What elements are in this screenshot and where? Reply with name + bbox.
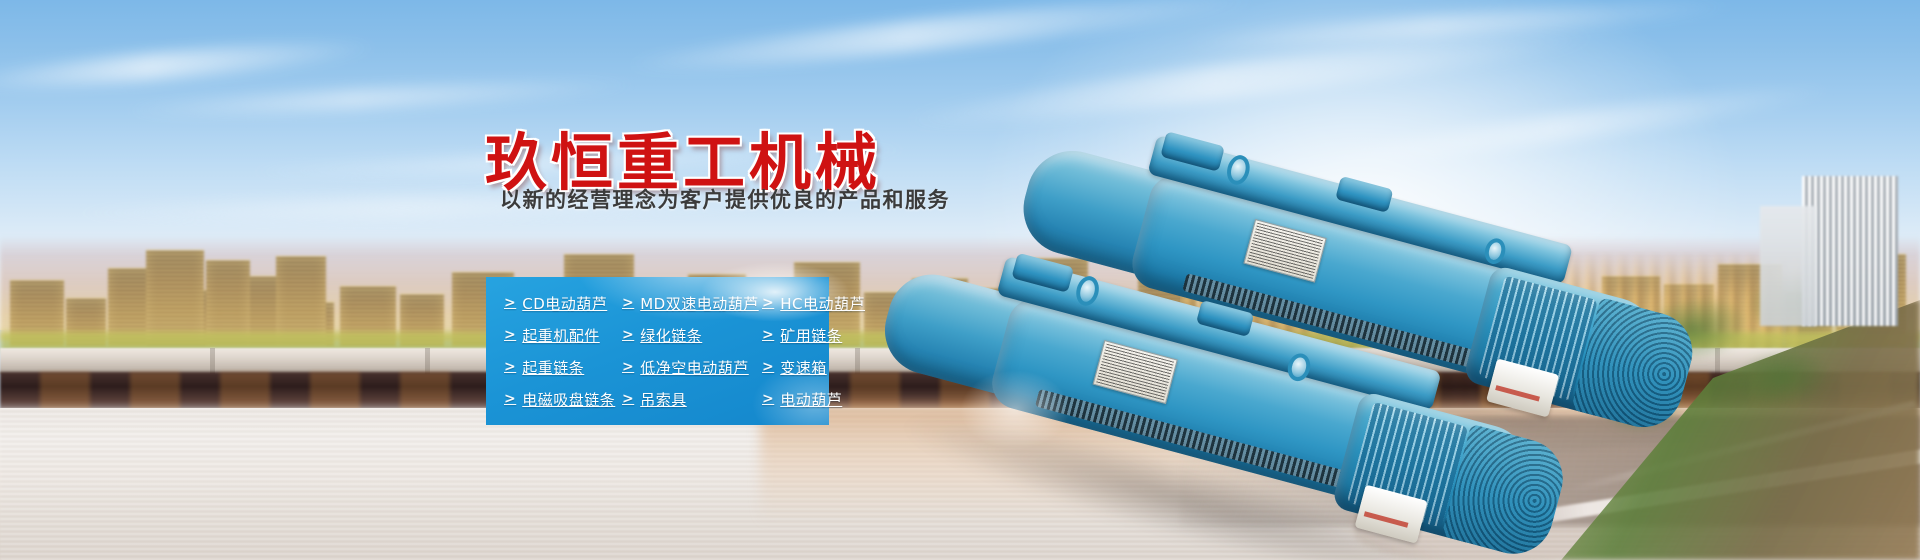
product-link[interactable]: > 变速箱 [762, 351, 865, 383]
product-link[interactable]: > HC电动葫芦 [762, 287, 865, 319]
chevron-right-icon: > [504, 391, 516, 407]
product-link-label: HC电动葫芦 [780, 293, 865, 314]
chevron-right-icon: > [622, 391, 634, 407]
product-link-label: 绿化链条 [640, 325, 702, 346]
product-link-label: 电动葫芦 [780, 389, 842, 410]
chevron-right-icon: > [622, 327, 634, 343]
chevron-right-icon: > [622, 359, 634, 375]
product-link-label: 电磁吸盘链条 [522, 389, 615, 410]
product-link[interactable]: > 吊索具 [622, 383, 762, 415]
product-link-label: 吊索具 [640, 389, 687, 410]
product-link-label: CD电动葫芦 [522, 293, 607, 314]
product-link-label: 变速箱 [780, 357, 827, 378]
chevron-right-icon: > [504, 295, 516, 311]
product-link-label: 低净空电动葫芦 [640, 357, 749, 378]
chevron-right-icon: > [762, 359, 774, 375]
chevron-right-icon: > [762, 327, 774, 343]
product-link[interactable]: > 矿用链条 [762, 319, 865, 351]
chevron-right-icon: > [762, 295, 774, 311]
product-link-label: 起重机配件 [522, 325, 600, 346]
product-link[interactable]: > MD双速电动葫芦 [622, 287, 762, 319]
product-link[interactable]: > 电磁吸盘链条 [504, 383, 622, 415]
product-link[interactable]: > CD电动葫芦 [504, 287, 622, 319]
chevron-right-icon: > [504, 359, 516, 375]
product-link[interactable]: > 绿化链条 [622, 319, 762, 351]
background-tower [1802, 176, 1898, 326]
product-link-label: MD双速电动葫芦 [640, 293, 759, 314]
chevron-right-icon: > [622, 295, 634, 311]
product-link[interactable]: > 低净空电动葫芦 [622, 351, 762, 383]
background-tower [1760, 206, 1816, 326]
product-link-label: 矿用链条 [780, 325, 842, 346]
product-links-panel: > CD电动葫芦 > MD双速电动葫芦 > HC电动葫芦 > 起重机配件 > 绿… [486, 277, 829, 425]
product-link[interactable]: > 起重链条 [504, 351, 622, 383]
chevron-right-icon: > [762, 391, 774, 407]
chevron-right-icon: > [504, 327, 516, 343]
promo-banner: 玖恒重工机械 以新的经营理念为客户提供优良的产品和服务 > CD电动葫芦 > M… [0, 0, 1920, 560]
product-link[interactable]: > 起重机配件 [504, 319, 622, 351]
page-subtitle: 以新的经营理念为客户提供优良的产品和服务 [500, 184, 950, 214]
product-link-label: 起重链条 [522, 357, 584, 378]
product-link[interactable]: > 电动葫芦 [762, 383, 865, 415]
